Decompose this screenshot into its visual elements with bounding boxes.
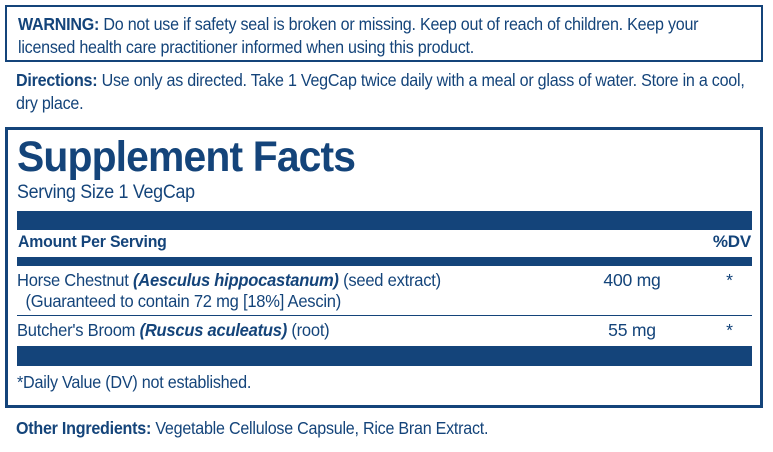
header-rule-medium — [17, 257, 752, 266]
supplement-facts-inner: Supplement Facts Serving Size 1 VegCap A… — [17, 130, 752, 393]
ingredient-subnote: (Guaranteed to contain 72 mg [18%] Aesci… — [17, 291, 563, 312]
ingredient-name-main: Horse Chestnut — [17, 270, 133, 290]
ingredient-name-part: (root) — [287, 320, 329, 340]
directions-body-text: Use only as directed. Take 1 VegCap twic… — [16, 70, 745, 113]
amount-per-serving-header-row: Amount Per Serving %DV — [17, 232, 752, 255]
footer-rule-thick — [17, 346, 752, 366]
ingredient-scientific-name: (Aesculus hippocastanum) — [133, 270, 339, 290]
daily-value-footnote: *Daily Value (DV) not established. — [17, 371, 751, 393]
supplement-facts-panel: Supplement Facts Serving Size 1 VegCap A… — [5, 127, 763, 408]
header-rule-thick — [17, 211, 752, 230]
supplement-label: WARNING: Do not use if safety seal is br… — [0, 0, 773, 452]
supplement-facts-title: Supplement Facts — [17, 134, 752, 180]
directions-text: Directions: Use only as directed. Take 1… — [16, 69, 760, 115]
other-ingredients-text: Other Ingredients: Vegetable Cellulose C… — [16, 417, 712, 440]
ingredient-amount: 55 mg — [577, 320, 687, 341]
amount-per-serving-label: Amount Per Serving — [18, 232, 167, 252]
serving-size-text: Serving Size 1 VegCap — [17, 181, 751, 204]
ingredient-name-main: Butcher's Broom — [17, 320, 140, 340]
ingredient-scientific-name: (Ruscus aculeatus) — [140, 320, 287, 340]
table-row: Horse Chestnut (Aesculus hippocastanum) … — [17, 266, 752, 315]
warning-text: WARNING: Do not use if safety seal is br… — [18, 13, 752, 59]
directions-lead-label: Directions: — [16, 70, 97, 90]
ingredient-daily-value: * — [707, 270, 752, 291]
warning-box: WARNING: Do not use if safety seal is br… — [5, 5, 763, 62]
other-ingredients-lead-label: Other Ingredients: — [16, 418, 151, 438]
ingredient-daily-value: * — [707, 320, 752, 341]
daily-value-header-label: %DV — [713, 232, 751, 252]
table-row: Butcher's Broom (Ruscus aculeatus) (root… — [17, 315, 752, 344]
directions-block: Directions: Use only as directed. Take 1… — [16, 69, 760, 115]
warning-lead-label: WARNING: — [18, 14, 99, 34]
ingredient-amount: 400 mg — [577, 270, 687, 291]
warning-body-text: Do not use if safety seal is broken or m… — [18, 14, 698, 57]
ingredient-name-part: (seed extract) — [339, 270, 441, 290]
other-ingredients-body-text: Vegetable Cellulose Capsule, Rice Bran E… — [151, 418, 488, 438]
